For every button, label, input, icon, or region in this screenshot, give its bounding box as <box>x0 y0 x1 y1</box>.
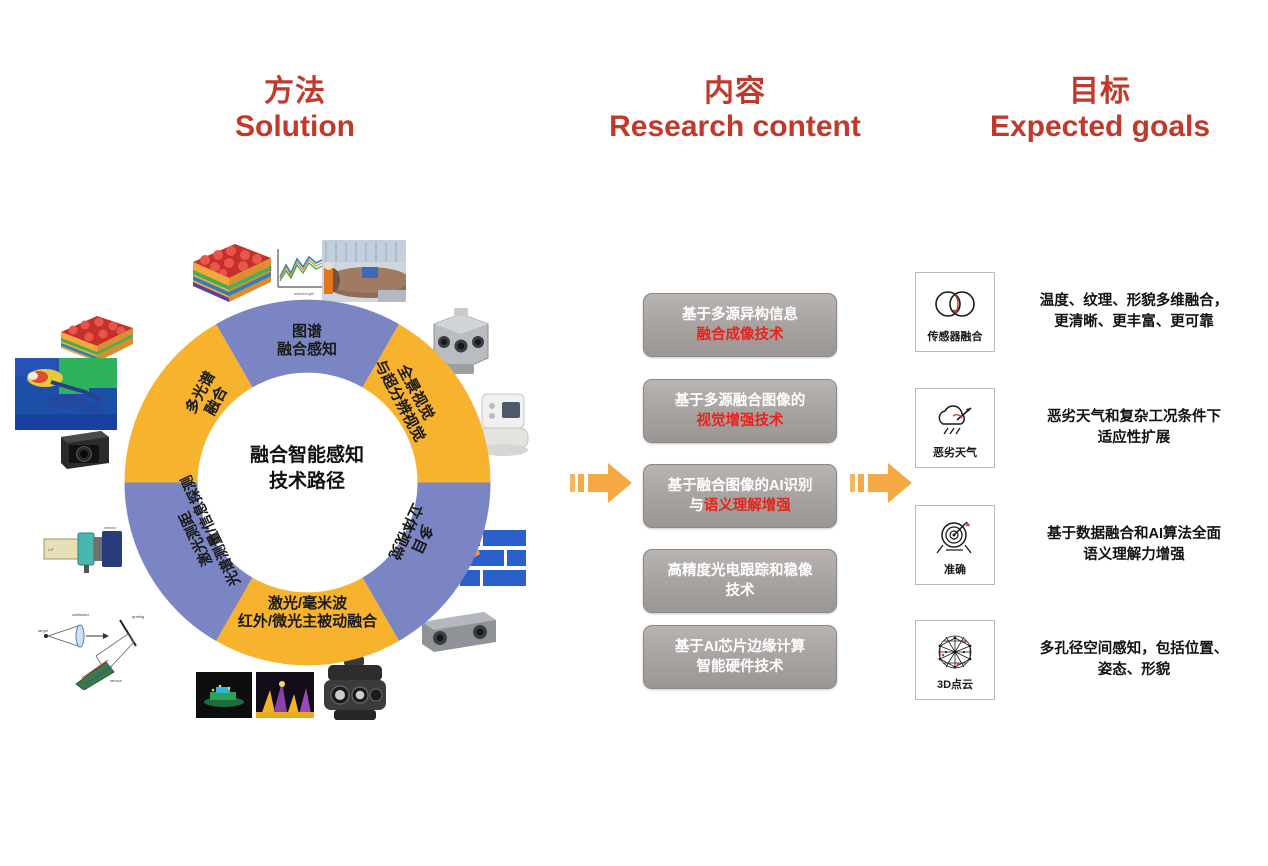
research-box-4-line1: 高精度光电跟踪和稳像 <box>668 561 813 581</box>
goal-text-1-line1: 温度、纹理、形貌多维融合， <box>1019 291 1249 312</box>
lidar-point-cloud-image <box>196 672 252 718</box>
goal-text-3: 基于数据融合和AI算法全面 语义理解力增强 <box>1019 524 1249 566</box>
goal-card-4-caption: 3D点云 <box>937 676 973 692</box>
goal-text-4-line2: 姿态、形貌 <box>1019 660 1249 681</box>
goal-text-1-line2: 更清晰、更丰富、更可靠 <box>1019 312 1249 333</box>
goal-text-1: 温度、纹理、形貌多维融合， 更清晰、更丰富、更可靠 <box>1019 291 1249 333</box>
goal-card-1-caption: 传感器融合 <box>928 328 983 344</box>
research-box-2[interactable]: 基于多源融合图像的 视觉增强技术 <box>643 379 837 443</box>
research-box-1-line1: 基于多源异构信息 <box>682 305 798 325</box>
research-box-4[interactable]: 高精度光电跟踪和稳像 技术 <box>643 549 837 613</box>
goal-card-3-caption: 准确 <box>944 561 966 577</box>
thermal-scene-image <box>256 672 314 718</box>
goal-row-2: 恶劣天气 恶劣天气和复杂工况条件下 适应性扩展 <box>915 388 1249 468</box>
goal-text-3-line2: 语义理解力增强 <box>1019 545 1249 566</box>
solution-wheel: 图谱 融合感知 全景视觉 与超分辨视觉 多目 立体视觉 激光/毫米波 红外/微光… <box>120 295 495 670</box>
research-box-3-line2-highlight: 语义理解增强 <box>704 498 791 514</box>
target-accuracy-icon <box>933 514 977 560</box>
research-box-3-line1: 基于融合图像的AI识别 <box>668 476 813 496</box>
column-header-content-en: Research content <box>590 109 880 144</box>
goal-card-2[interactable]: 恶劣天气 <box>915 388 995 468</box>
research-box-5[interactable]: 基于AI芯片边缘计算 智能硬件技术 <box>643 625 837 689</box>
wheel-center-line1: 融合智能感知 <box>207 443 407 469</box>
svg-text:target: target <box>38 628 49 633</box>
goal-text-2-line1: 恶劣天气和复杂工况条件下 <box>1019 407 1249 428</box>
sensor-fusion-icon <box>932 281 978 327</box>
industrial-pipeline-photo <box>322 240 406 302</box>
wheel-label-bottom: 激光/毫米波 红外/微光主被动融合 <box>190 595 425 631</box>
research-box-5-line1: 基于AI芯片边缘计算 <box>675 637 806 657</box>
wheel-center-label: 融合智能感知 技术路径 <box>207 443 407 494</box>
goal-text-4: 多孔径空间感知，包括位置、 姿态、形貌 <box>1019 639 1249 681</box>
goal-row-4: 3D点云 多孔径空间感知，包括位置、 姿态、形貌 <box>915 620 1249 700</box>
research-box-5-line2: 智能硬件技术 <box>675 657 806 677</box>
column-header-goals-cn: 目标 <box>960 74 1240 109</box>
arrow-solution-to-content <box>570 455 634 511</box>
wheel-center-line2: 技术路径 <box>207 469 407 495</box>
svg-text:ref: ref <box>268 265 273 271</box>
goal-card-4[interactable]: 3D点云 <box>915 620 995 700</box>
arrow-content-to-goals <box>850 455 914 511</box>
goal-card-2-caption: 恶劣天气 <box>933 444 977 460</box>
research-box-1[interactable]: 基于多源异构信息 融合成像技术 <box>643 293 837 357</box>
svg-text:L/F: L/F <box>48 547 54 552</box>
spectrometer-assembly-diagram: L/F detector <box>42 525 132 575</box>
spectral-curve-plot-icon: ref wavelength <box>268 243 328 301</box>
column-header-solution-cn: 方法 <box>155 74 435 109</box>
research-box-4-line2: 技术 <box>668 581 813 601</box>
bad-weather-icon <box>933 397 977 443</box>
goal-card-1[interactable]: 传感器融合 <box>915 272 995 352</box>
column-header-content-cn: 内容 <box>590 74 880 109</box>
goal-text-4-line1: 多孔径空间感知，包括位置、 <box>1019 639 1249 660</box>
wheel-label-top: 图谱 融合感知 <box>232 323 382 359</box>
column-header-content: 内容 Research content <box>590 74 880 145</box>
column-header-solution-en: Solution <box>155 109 435 144</box>
thermal-camera-photo <box>57 425 113 471</box>
thermal-infrared-image <box>15 358 117 430</box>
goal-text-2-line2: 适应性扩展 <box>1019 428 1249 449</box>
research-box-3-line2-prefix: 与 <box>689 498 704 514</box>
goal-card-3[interactable]: 准确 <box>915 505 995 585</box>
point-cloud-icon <box>934 629 976 675</box>
research-box-3[interactable]: 基于融合图像的AI识别 与语义理解增强 <box>643 464 837 528</box>
svg-text:detector: detector <box>104 526 117 530</box>
research-box-1-line2: 融合成像技术 <box>682 325 798 345</box>
goal-row-1: 传感器融合 温度、纹理、形貌多维融合， 更清晰、更丰富、更可靠 <box>915 272 1249 352</box>
goal-text-3-line1: 基于数据融合和AI算法全面 <box>1019 524 1249 545</box>
svg-text:collimator: collimator <box>72 612 90 617</box>
research-box-2-line2: 视觉增强技术 <box>675 411 806 431</box>
svg-text:sensor: sensor <box>110 678 123 683</box>
research-box-2-line1: 基于多源融合图像的 <box>675 391 806 411</box>
goal-row-3: 准确 基于数据融合和AI算法全面 语义理解力增强 <box>915 505 1249 585</box>
goal-text-2: 恶劣天气和复杂工况条件下 适应性扩展 <box>1019 407 1249 449</box>
column-header-solution: 方法 Solution <box>155 74 435 145</box>
column-header-goals-en: Expected goals <box>960 109 1240 144</box>
column-header-goals: 目标 Expected goals <box>960 74 1240 145</box>
